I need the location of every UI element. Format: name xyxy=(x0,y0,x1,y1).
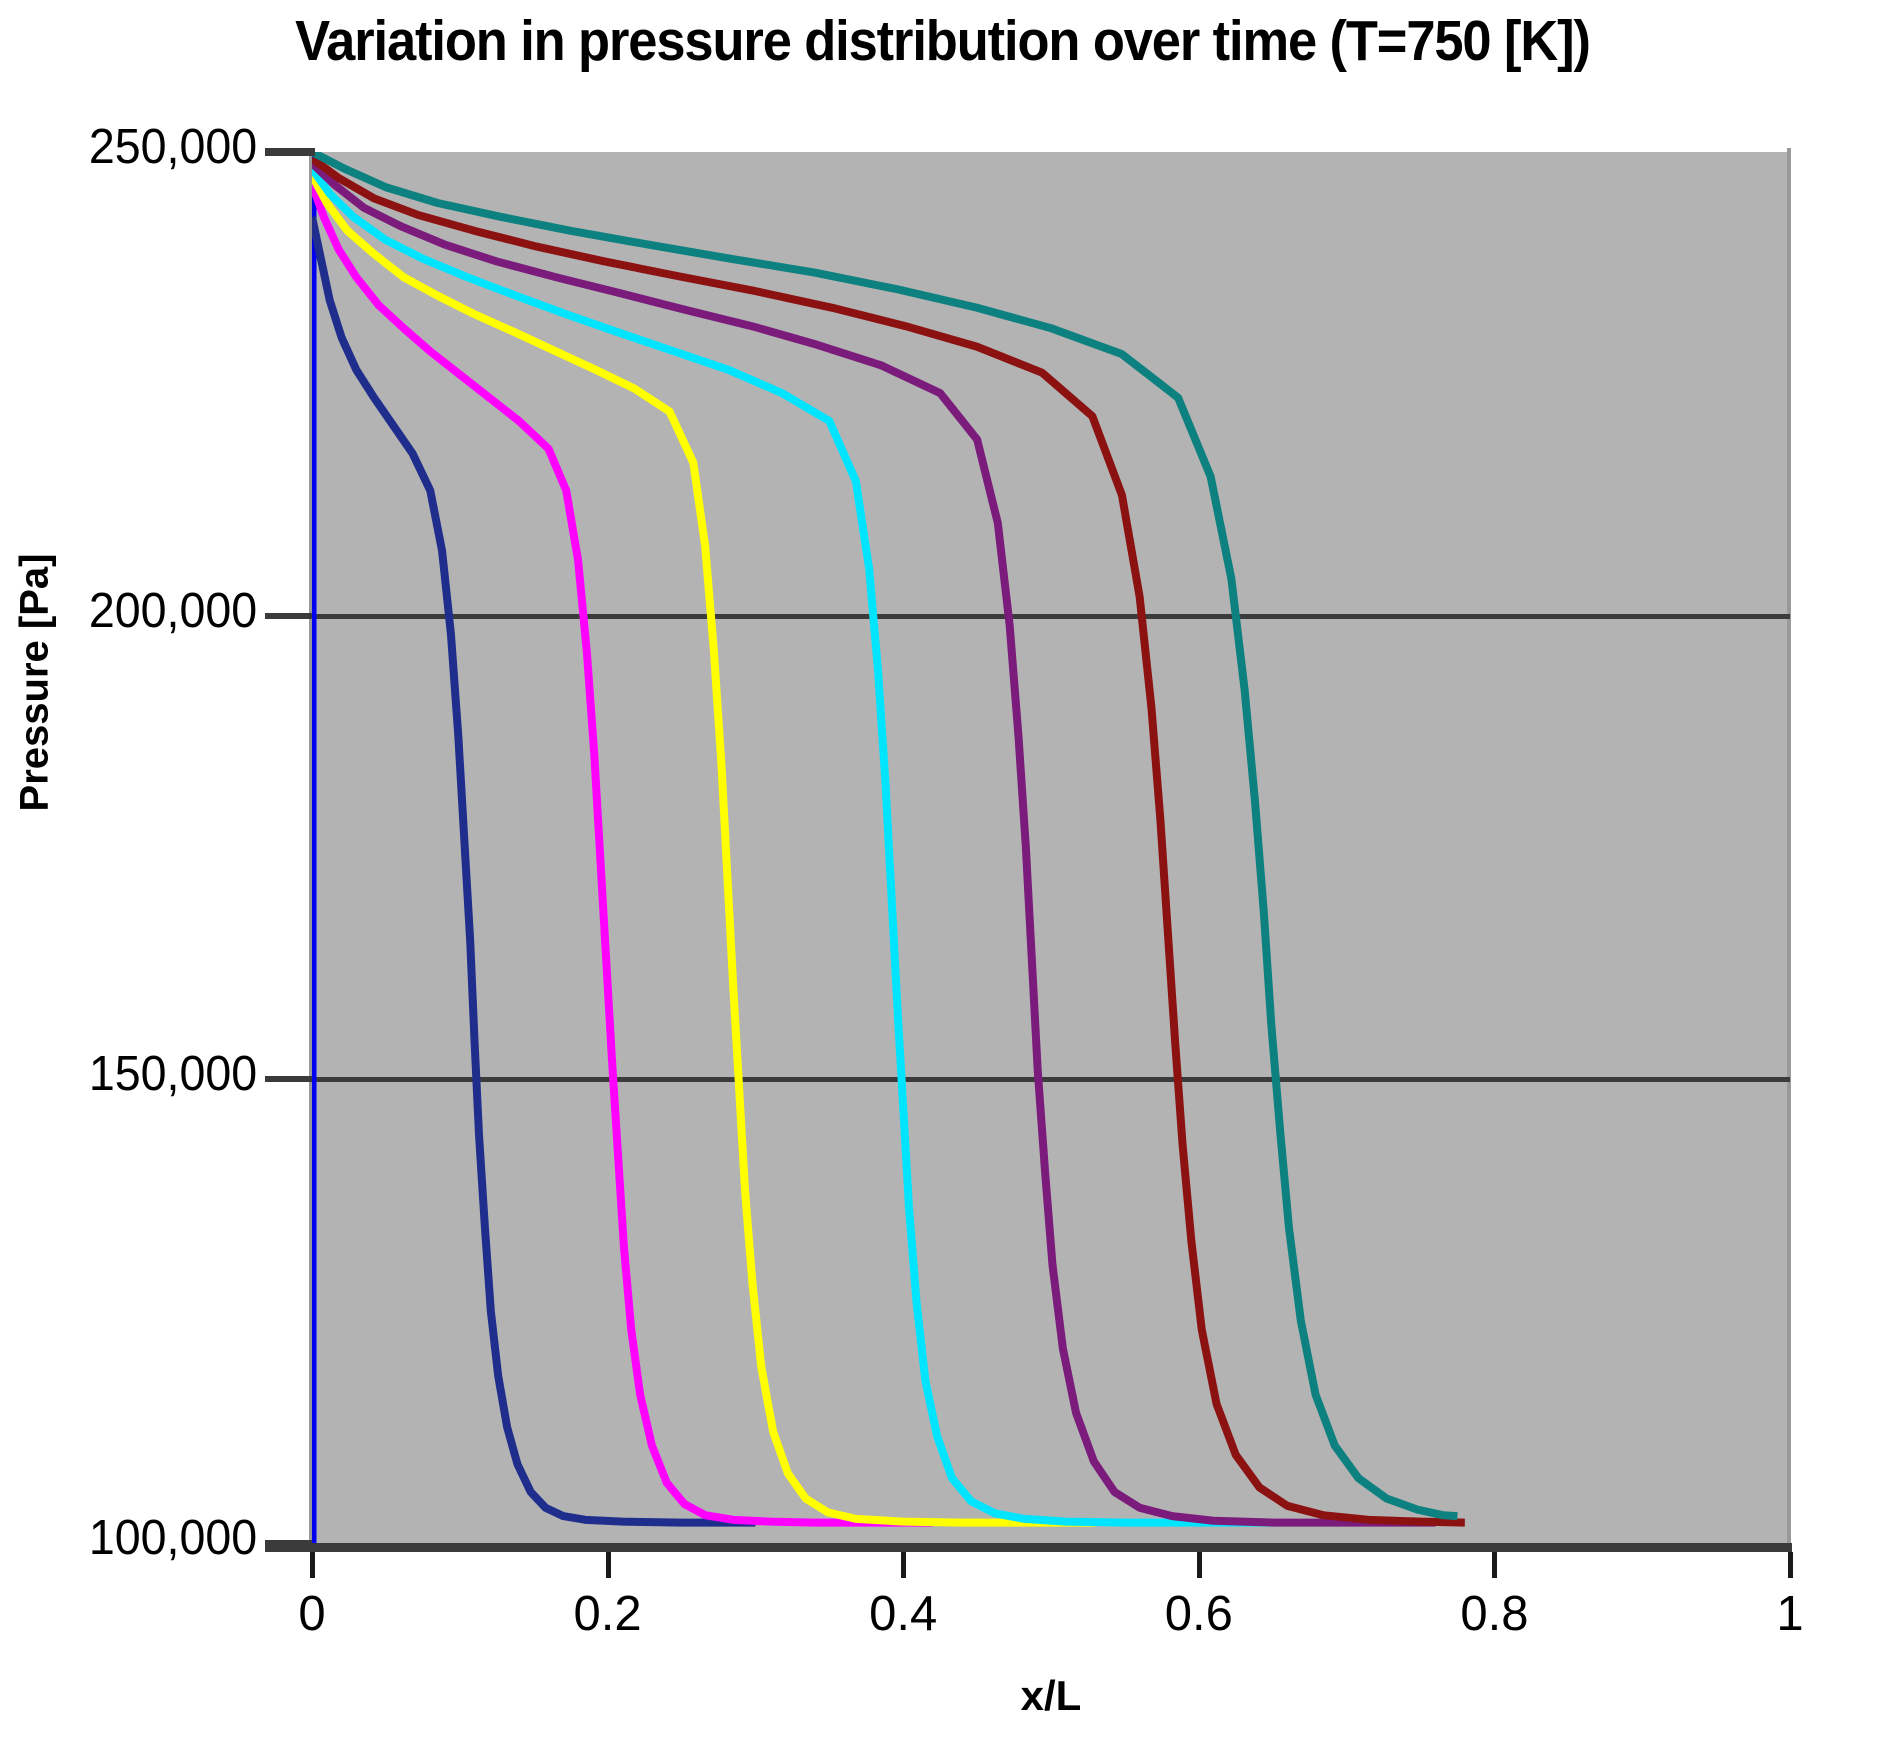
x-axis-line xyxy=(265,1543,1792,1552)
y-tick-label-100000: 100,000 xyxy=(89,1510,257,1566)
x-tick-label-1: 1 xyxy=(1720,1586,1860,1642)
series-lines xyxy=(312,152,1790,1543)
y-tick-label-200000: 200,000 xyxy=(89,583,257,639)
x-tick-label-0.4: 0.4 xyxy=(833,1586,973,1642)
series-line-t2 xyxy=(312,217,755,1523)
x-tick-mark-0 xyxy=(310,1552,315,1578)
x-axis-title: x/L xyxy=(312,1672,1790,1720)
x-tick-label-0.6: 0.6 xyxy=(1129,1586,1269,1642)
x-tick-mark-1 xyxy=(1788,1552,1793,1578)
y-tick-mark-200000 xyxy=(265,613,315,619)
x-tick-label-0: 0 xyxy=(242,1586,382,1642)
x-tick-mark-0.6 xyxy=(1197,1552,1202,1578)
x-tick-label-0.8: 0.8 xyxy=(1424,1586,1564,1642)
chart-root: Variation in pressure distribution over … xyxy=(0,0,1885,1757)
x-tick-label-0.2: 0.2 xyxy=(538,1586,678,1642)
x-tick-mark-0.2 xyxy=(606,1552,611,1578)
y-tick-label-250000: 250,000 xyxy=(89,119,257,175)
y-tick-mark-150000 xyxy=(265,1076,315,1082)
y-tick-label-150000: 150,000 xyxy=(89,1046,257,1102)
y-axis-title: Pressure [Pa] xyxy=(13,463,58,903)
x-tick-mark-0.8 xyxy=(1492,1552,1497,1578)
series-line-t4 xyxy=(312,175,1095,1522)
y-axis-top-tick xyxy=(265,148,315,156)
series-line-t6 xyxy=(312,163,1435,1522)
chart-title: Variation in pressure distribution over … xyxy=(75,8,1809,74)
x-tick-mark-0.4 xyxy=(901,1552,906,1578)
